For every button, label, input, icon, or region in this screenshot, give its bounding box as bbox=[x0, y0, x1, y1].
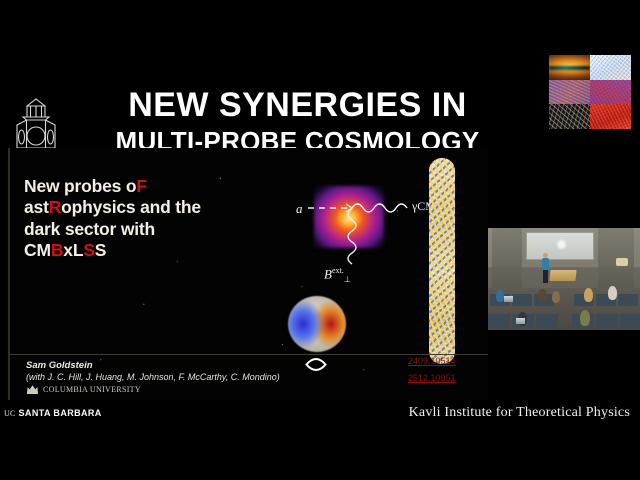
demonstration-table bbox=[549, 270, 576, 281]
seat bbox=[512, 294, 532, 306]
headline-highlight-f: F bbox=[136, 176, 147, 196]
headline-seg-5: ophysics and the bbox=[61, 197, 201, 217]
laptop bbox=[504, 296, 513, 302]
columbia-university-name: Columbia University bbox=[43, 385, 141, 394]
sky-panel-cmb-temperature bbox=[590, 55, 631, 80]
title-header: NEW SYNERGIES IN MULTI-PROBE COSMOLOGY bbox=[0, 36, 540, 146]
audience-member bbox=[584, 288, 593, 302]
arxiv-reference-link-2[interactable]: 2512.10951 bbox=[408, 373, 456, 383]
audience-member bbox=[496, 290, 504, 302]
diagram-label-axion: a bbox=[296, 201, 303, 217]
bfield-symbol: B bbox=[324, 266, 332, 281]
arxiv-reference-list: 2409.10514 2512.10951 bbox=[408, 356, 456, 383]
lecture-hall-video-feed[interactable] bbox=[488, 228, 640, 330]
presentation-screen: NEW SYNERGIES IN MULTI-PROBE COSMOLOGY N… bbox=[0, 0, 640, 480]
footer-bar: UC SANTA BARBARA Kavli Institute for The… bbox=[0, 400, 640, 480]
ucsb-logo: UC SANTA BARBARA bbox=[4, 408, 102, 418]
headline-seg-11: xL bbox=[63, 240, 83, 260]
projection-screen bbox=[526, 232, 594, 260]
crown-icon bbox=[26, 384, 39, 394]
wall-panel-left bbox=[492, 228, 522, 296]
headline-seg-7: dark sector with bbox=[24, 219, 155, 239]
columbia-university-logo: Columbia University bbox=[26, 384, 141, 394]
sky-panel-lensing-convergence bbox=[549, 80, 590, 105]
rotation-arrow-icon bbox=[303, 358, 329, 371]
headline-highlight-r: R bbox=[49, 197, 61, 217]
page-title: NEW SYNERGIES IN MULTI-PROBE COSMOLOGY bbox=[70, 88, 525, 157]
bfield-superscript: ext. bbox=[332, 266, 344, 275]
slide-footer-divider bbox=[10, 354, 488, 355]
laptop bbox=[516, 318, 525, 324]
headline-seg-3: ast bbox=[24, 197, 49, 217]
sky-panel-point-source bbox=[549, 104, 590, 129]
axion-photon-conversion-diagram: a γCMB Bext.⊥ bbox=[262, 156, 467, 356]
seat bbox=[620, 314, 640, 328]
headline-seg-0: New probes o bbox=[24, 176, 136, 196]
projected-slide-glow bbox=[557, 240, 566, 249]
sky-map-montage bbox=[549, 55, 631, 129]
slide-content-area: New probes oF astRophysics and the dark … bbox=[8, 148, 488, 400]
slide-headline: New probes oF astRophysics and the dark … bbox=[24, 176, 264, 261]
audience-member bbox=[608, 286, 617, 300]
seat bbox=[618, 294, 638, 306]
headline-seg-9: CM bbox=[24, 240, 51, 260]
headline-highlight-b: B bbox=[51, 240, 63, 260]
title-line-primary: NEW SYNERGIES IN bbox=[70, 88, 525, 124]
arxiv-reference-link-1[interactable]: 2409.10514 bbox=[408, 356, 456, 366]
speaker-torso bbox=[542, 258, 549, 270]
author-collaborators: (with J. C. Hill, J. Huang, M. Johnson, … bbox=[26, 372, 280, 382]
ucsb-name: SANTA BARBARA bbox=[19, 408, 102, 418]
audience-member bbox=[538, 289, 547, 302]
headline-seg-13: S bbox=[95, 240, 106, 260]
headline-highlight-s: S bbox=[83, 240, 94, 260]
seat bbox=[596, 314, 618, 328]
cmb-map-strip bbox=[429, 158, 455, 364]
audience-member bbox=[552, 291, 560, 303]
bfield-subscript: ⊥ bbox=[344, 275, 351, 284]
seat bbox=[488, 314, 510, 328]
kitp-institute-name: Kavli Institute for Theoretical Physics bbox=[409, 405, 630, 421]
sky-panel-galactic-dust bbox=[549, 55, 590, 80]
seat bbox=[536, 314, 558, 328]
sky-panel-tsz-compton-y bbox=[590, 80, 631, 105]
author-name: Sam Goldstein bbox=[26, 360, 93, 371]
sky-panel-ksz-velocity bbox=[590, 104, 631, 129]
audience-member bbox=[580, 310, 590, 326]
speaker-legs bbox=[543, 270, 548, 283]
ksz-dipole-sphere bbox=[288, 296, 346, 352]
diagram-label-bfield: Bext.⊥ bbox=[324, 266, 351, 284]
lecture-hall-floor bbox=[488, 288, 640, 330]
podium-lamp bbox=[616, 258, 628, 266]
ucsb-prefix: UC bbox=[4, 409, 16, 418]
